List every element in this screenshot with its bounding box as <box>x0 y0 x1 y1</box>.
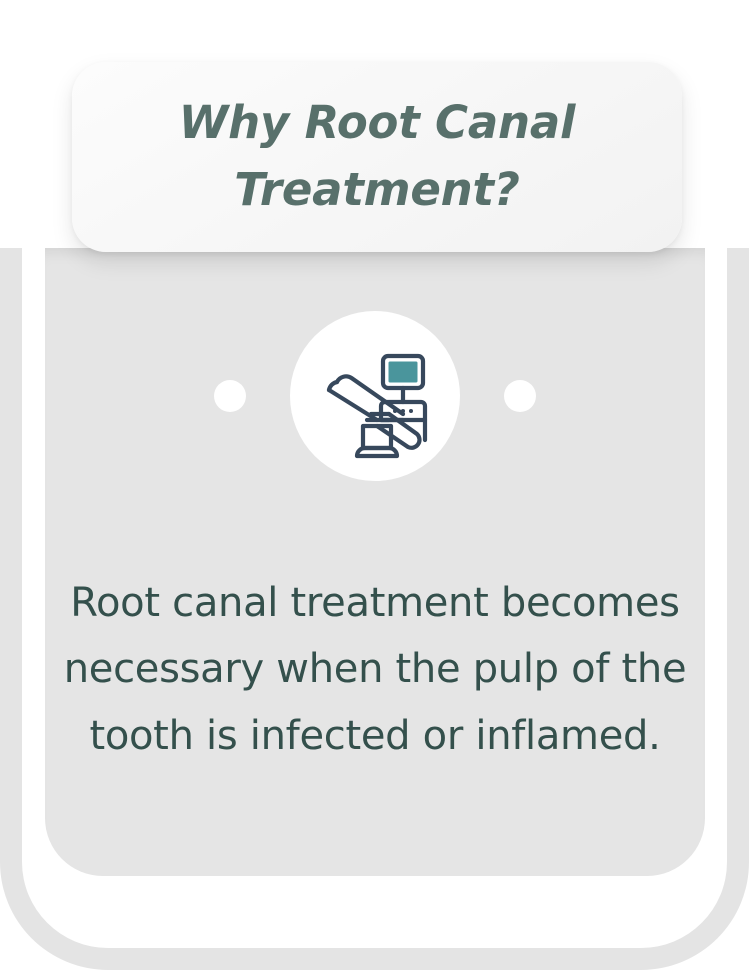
control-panel-dots <box>393 409 413 413</box>
icon-badge <box>290 311 460 481</box>
decoration-dot-left <box>214 380 246 412</box>
icon-row <box>45 310 705 482</box>
header-pill: Why Root Canal Treatment? <box>72 62 682 252</box>
monitor-screen <box>389 362 418 383</box>
decoration-dot-right <box>504 380 536 412</box>
dental-chair-icon <box>311 332 439 460</box>
card-body-text: Root canal treatment becomes necessary w… <box>60 570 690 769</box>
page-title: Why Root Canal Treatment? <box>72 90 682 223</box>
